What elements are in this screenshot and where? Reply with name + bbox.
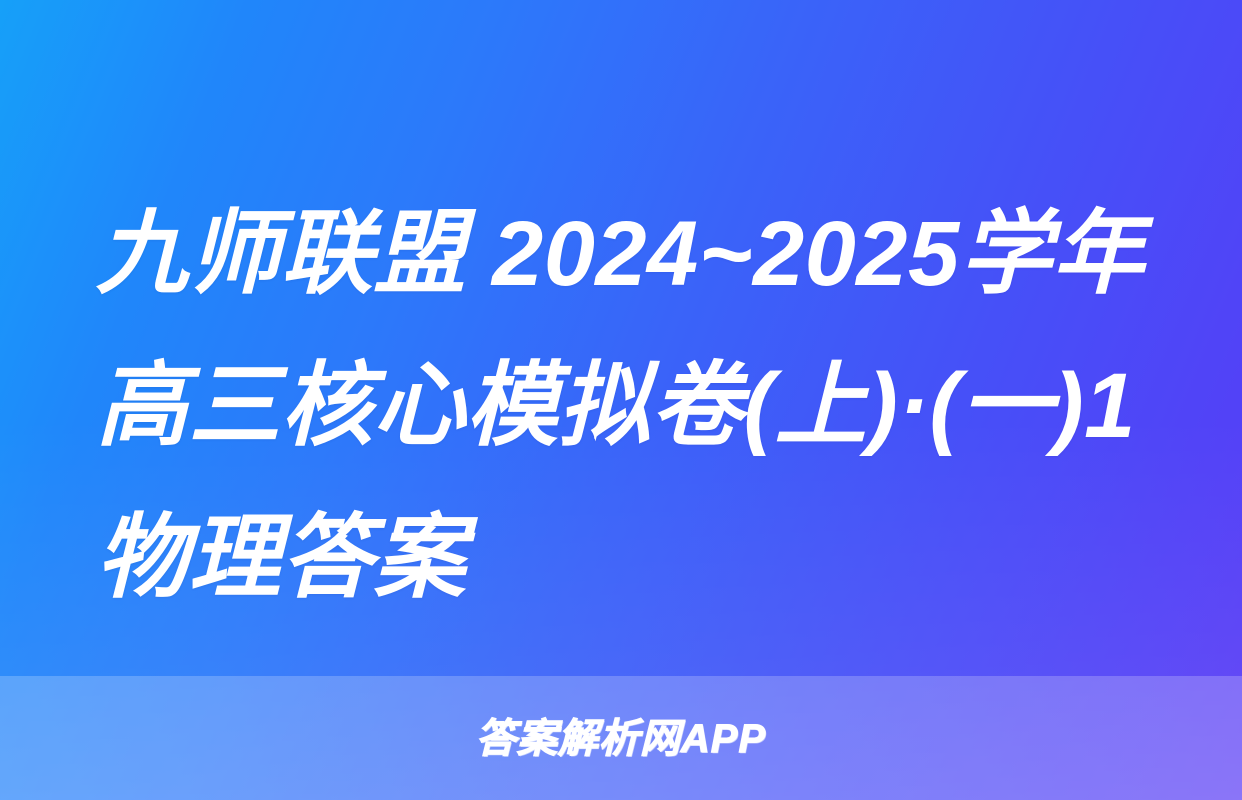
watermark-band: 答案解析网APP <box>0 676 1242 800</box>
page-title: 九师联盟 2024~2025学年高三核心模拟卷(上)·(一)1物理答案 <box>96 178 1172 634</box>
cover-canvas: 九师联盟 2024~2025学年高三核心模拟卷(上)·(一)1物理答案 答案解析… <box>0 0 1242 800</box>
cover-title-block: 九师联盟 2024~2025学年高三核心模拟卷(上)·(一)1物理答案 <box>96 178 1172 634</box>
watermark-label: 答案解析网APP <box>476 719 766 759</box>
